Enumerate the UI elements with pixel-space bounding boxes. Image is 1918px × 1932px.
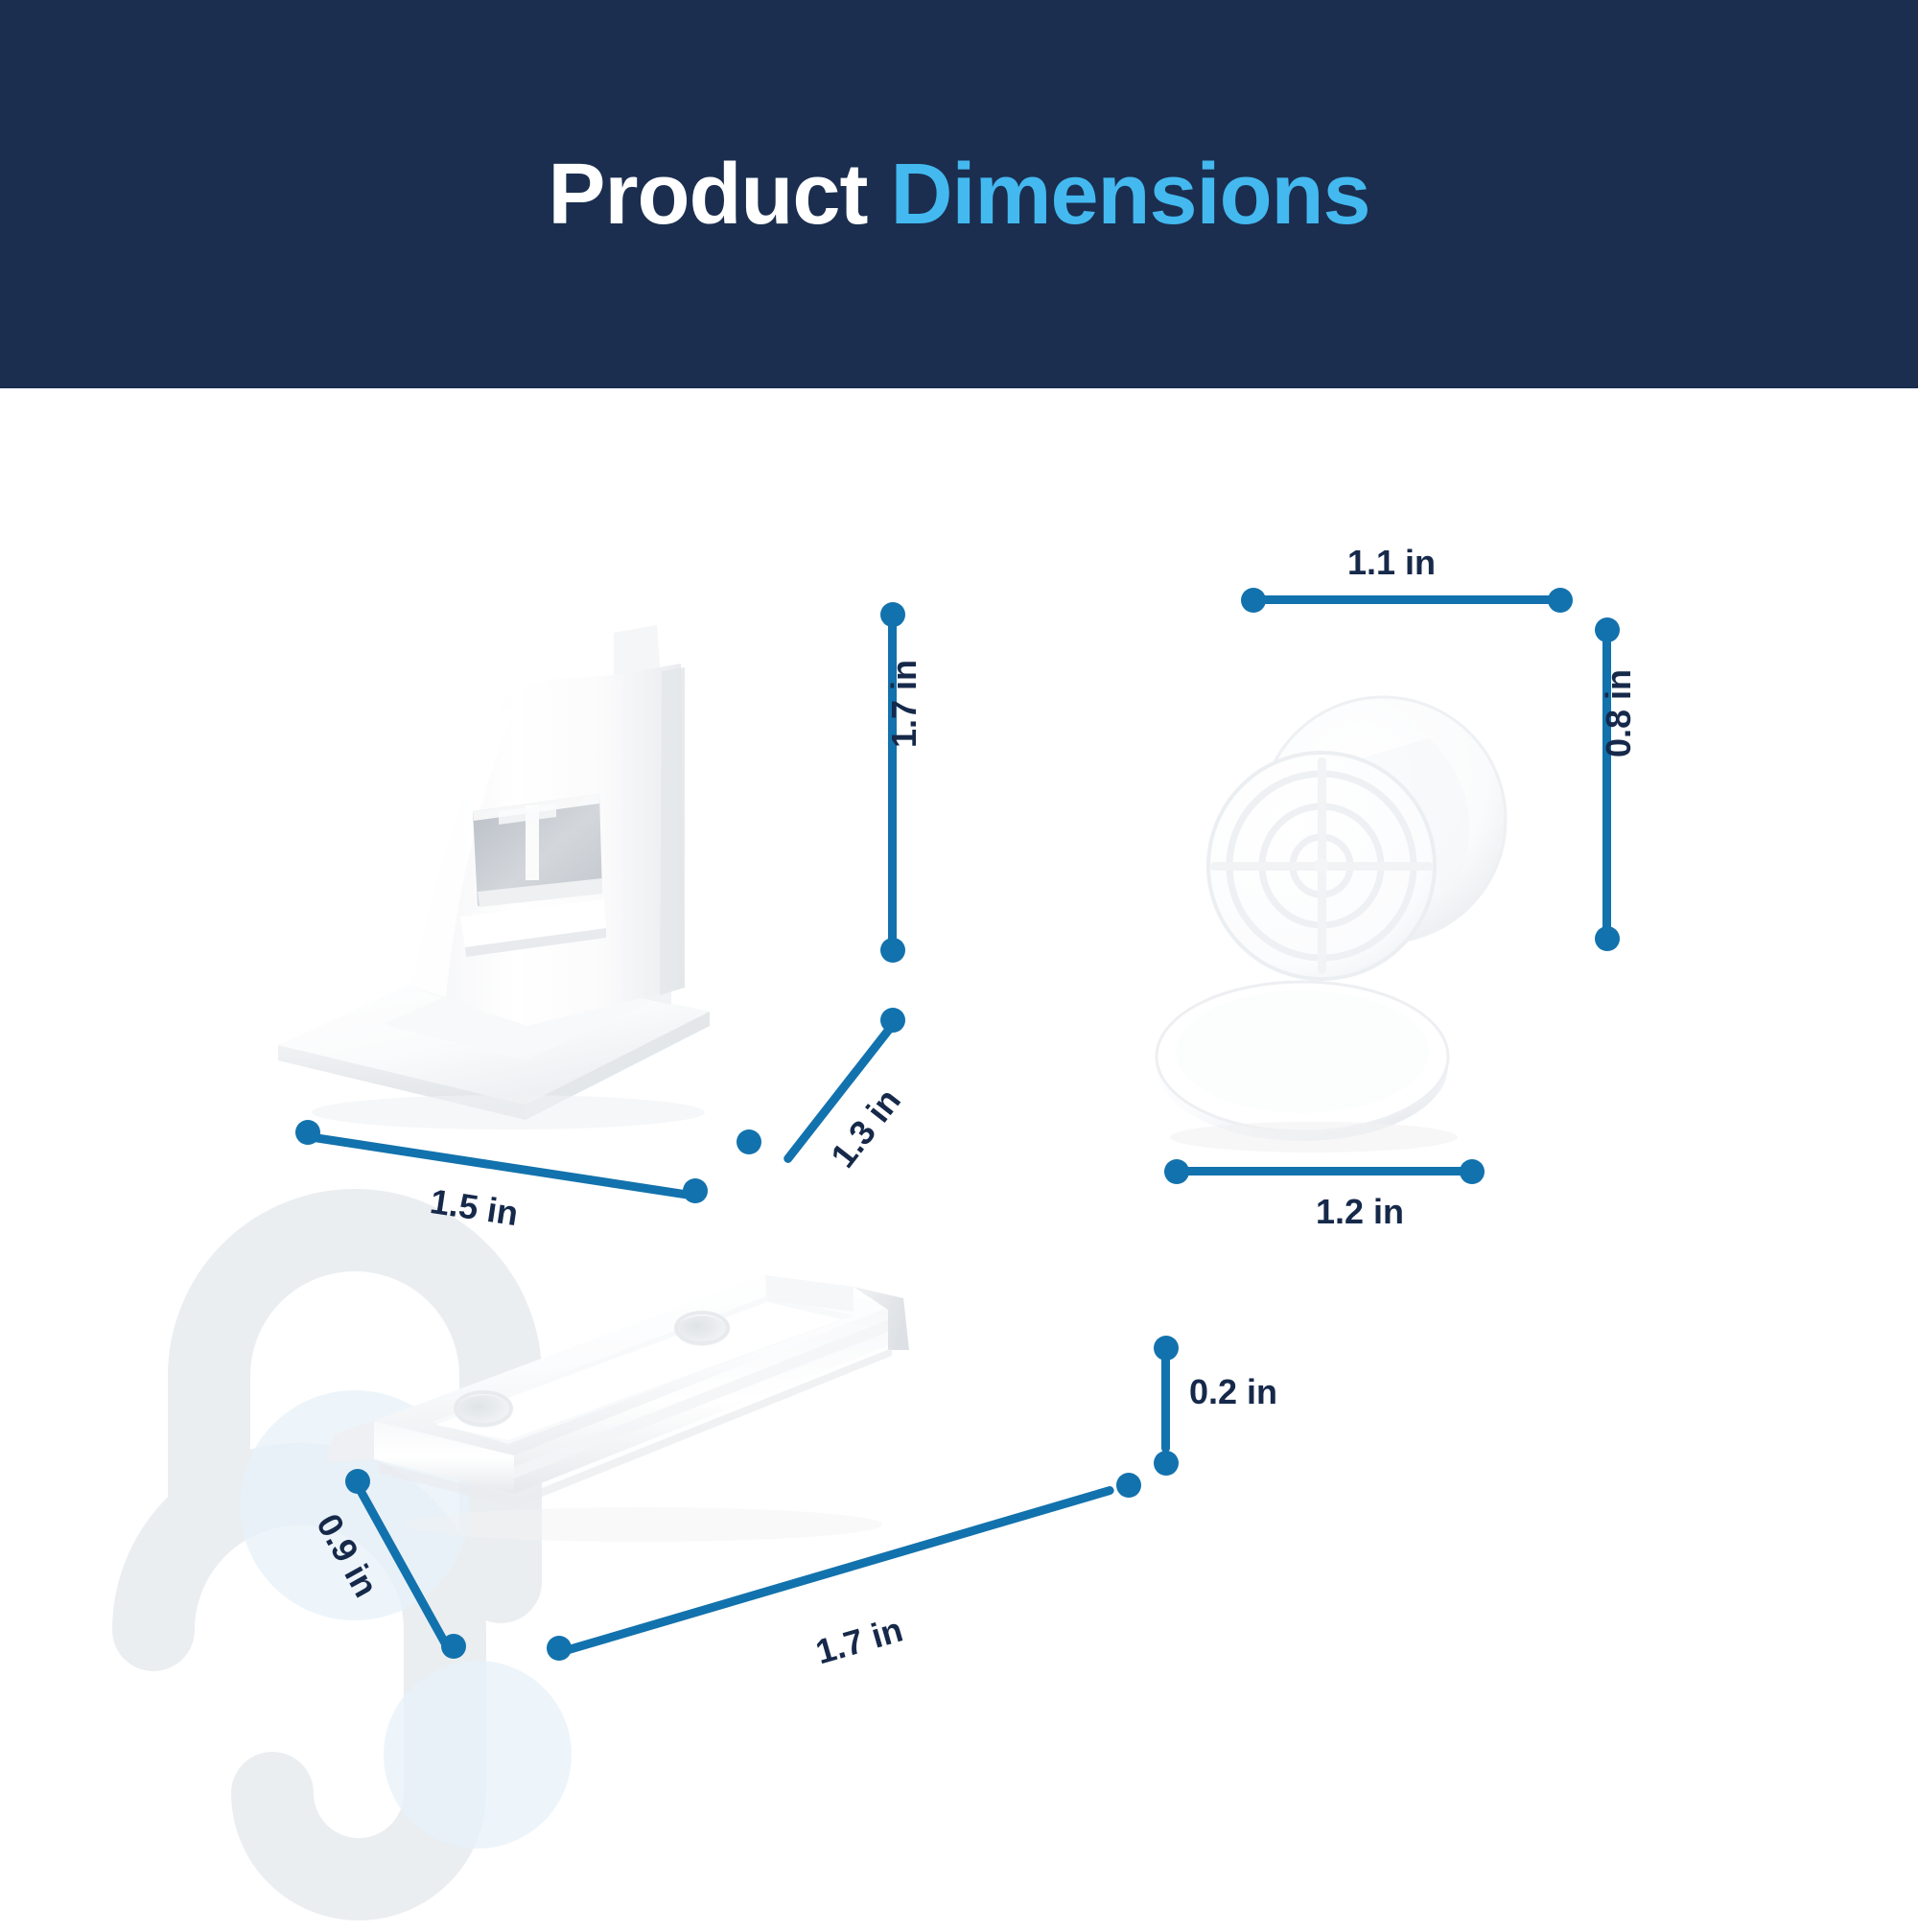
measure-endpoint-dot [1460,1159,1485,1184]
measure-label-pad-outer-width: 1.2 in [1316,1192,1404,1232]
header-banner: Product Dimensions [0,0,1918,388]
measure-endpoint-dot [441,1634,466,1659]
product-adhesive-pads [1141,623,1544,1160]
measure-endpoint-dot [1116,1473,1141,1498]
measure-line-horizontal [1253,595,1560,604]
measure-label-pad-inner-width: 1.1 in [1347,543,1436,583]
measure-line-vertical [1161,1347,1170,1453]
measure-endpoint-dot [1154,1451,1179,1476]
page-title-part1: Product [548,147,867,243]
page-title-part2: Dimensions [890,147,1369,243]
measure-endpoint-dot [737,1129,761,1154]
page-title: Product Dimensions [548,151,1369,238]
measure-endpoint-dot [1595,926,1620,951]
measure-endpoint-dot [880,938,905,963]
product-lock-base-stand [269,575,806,1131]
infographic-canvas: Product Dimensions [0,0,1918,1918]
measure-label-strap-thickness: 0.2 in [1189,1372,1277,1412]
measure-endpoint-dot [683,1178,708,1203]
measure-line-horizontal [1177,1167,1472,1175]
measure-label-stand-height: 1.7 in [884,660,924,748]
measure-label-pad-height: 0.8 in [1599,669,1639,757]
measure-endpoint-dot [1548,588,1573,613]
